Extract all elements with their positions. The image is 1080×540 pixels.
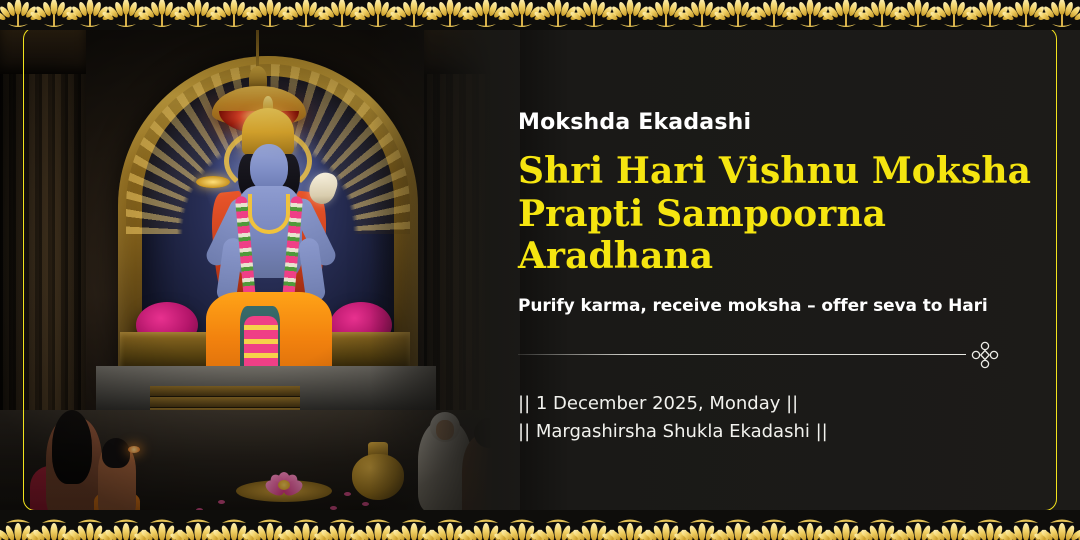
festival-eyebrow: Mokshda Ekadashi [518, 110, 1040, 136]
divider [518, 340, 1000, 370]
text-panel: Mokshda Ekadashi Shri Hari Vishnu Moksha… [500, 14, 1080, 526]
event-tithi: || Margashirsha Shukla Ekadashi || [518, 418, 1040, 446]
event-date: || 1 December 2025, Monday || [518, 390, 1040, 418]
bottom-border-decoration [0, 510, 1080, 540]
top-border-decoration [0, 0, 1080, 30]
artwork-right-fade [370, 14, 520, 526]
subtitle: Purify karma, receive moksha – offer sev… [518, 296, 1040, 316]
page-title: Shri Hari Vishnu Moksha Prapti Sampoorna… [518, 150, 1040, 277]
deity-artwork [0, 14, 520, 526]
headline-line-2: Prapti Sampoorna Aradhana [518, 193, 1040, 278]
four-lobed-knot-ornament-icon [970, 340, 1000, 370]
headline-line-1: Shri Hari Vishnu Moksha [518, 150, 1040, 192]
divider-line [518, 354, 966, 355]
festival-banner: Mokshda Ekadashi Shri Hari Vishnu Moksha… [0, 0, 1080, 540]
event-meta: || 1 December 2025, Monday || || Margash… [518, 390, 1040, 446]
